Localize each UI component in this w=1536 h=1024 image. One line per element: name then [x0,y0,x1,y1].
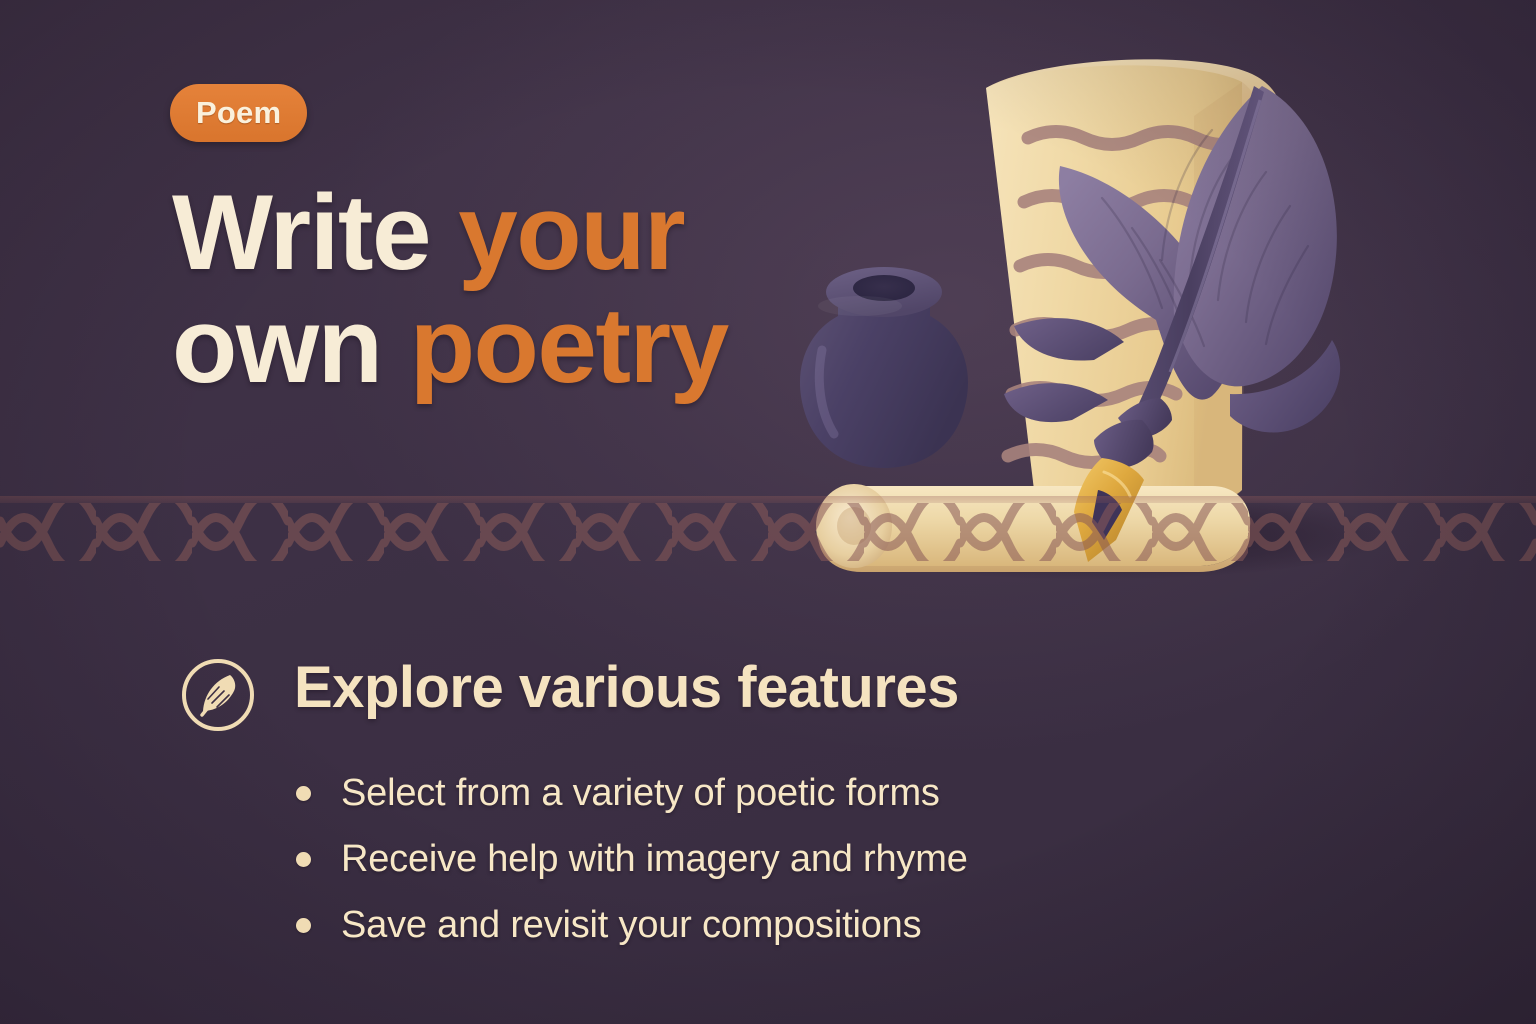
list-item: Select from a variety of poetic forms [296,760,968,826]
feather-quill-icon [178,655,258,735]
inkpot [800,267,968,468]
poetry-promo-banner: Poem Write your own poetry Explore vario… [0,0,1536,1024]
bullet-dot-icon [296,786,311,801]
page-title: Write your own poetry [172,176,728,402]
category-badge[interactable]: Poem [170,84,307,142]
list-item-label: Select from a variety of poetic forms [341,772,940,815]
headline-line1-accent: your [458,172,684,292]
list-item-label: Save and revisit your compositions [341,904,921,947]
headline-line2-plain: own [172,285,410,405]
features-title: Explore various features [294,654,959,721]
bullet-dot-icon [296,852,311,867]
headline-line2-accent: poetry [410,285,728,405]
bullet-dot-icon [296,918,311,933]
headline-line1-plain: Write [172,172,458,292]
list-item: Save and revisit your compositions [296,892,968,958]
divider-rule [0,496,1536,503]
category-badge-label: Poem [196,95,281,131]
braided-rope-border [0,503,1536,561]
features-list: Select from a variety of poetic forms Re… [296,760,968,958]
list-item-label: Receive help with imagery and rhyme [341,838,968,881]
list-item: Receive help with imagery and rhyme [296,826,968,892]
